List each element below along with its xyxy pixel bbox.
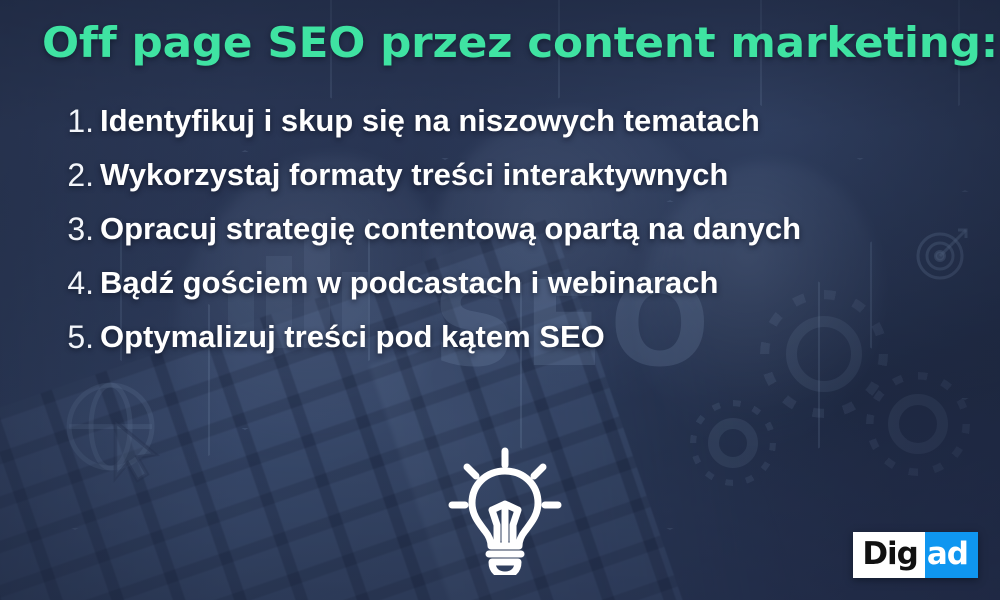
- digad-logo[interactable]: Dig ad: [853, 532, 978, 578]
- list-item: 2. Wykorzystaj formaty treści interaktyw…: [60, 150, 960, 200]
- slide-content: Off page SEO przez content marketing: 1.…: [0, 0, 1000, 600]
- list-item-label: Wykorzystaj formaty treści interaktywnyc…: [100, 150, 728, 200]
- list-item-number: 2.: [60, 150, 100, 200]
- list-item: 3. Opracuj strategię contentową opartą n…: [60, 204, 960, 254]
- list-item: 1. Identyfikuj i skup się na niszowych t…: [60, 96, 960, 146]
- list-item: 5. Optymalizuj treści pod kątem SEO: [60, 312, 960, 362]
- bullet-list: 1. Identyfikuj i skup się na niszowych t…: [60, 96, 960, 366]
- list-item-label: Opracuj strategię contentową opartą na d…: [100, 204, 801, 254]
- list-item-label: Bądź gościem w podcastach i webinarach: [100, 258, 718, 308]
- list-item-number: 5.: [60, 312, 100, 362]
- logo-text-ad: ad: [925, 532, 978, 578]
- list-item-number: 4.: [60, 258, 100, 308]
- list-item: 4. Bądź gościem w podcastach i webinarac…: [60, 258, 960, 308]
- slide-canvas: SEO Off page SEO przez content marketi: [0, 0, 1000, 600]
- list-item-number: 1.: [60, 96, 100, 146]
- page-title: Off page SEO przez content marketing:: [42, 18, 995, 68]
- list-item-number: 3.: [60, 204, 100, 254]
- list-item-label: Optymalizuj treści pod kątem SEO: [100, 312, 605, 362]
- lightbulb-icon: [447, 447, 563, 575]
- list-item-label: Identyfikuj i skup się na niszowych tema…: [100, 96, 760, 146]
- logo-text-dig: Dig: [853, 532, 925, 578]
